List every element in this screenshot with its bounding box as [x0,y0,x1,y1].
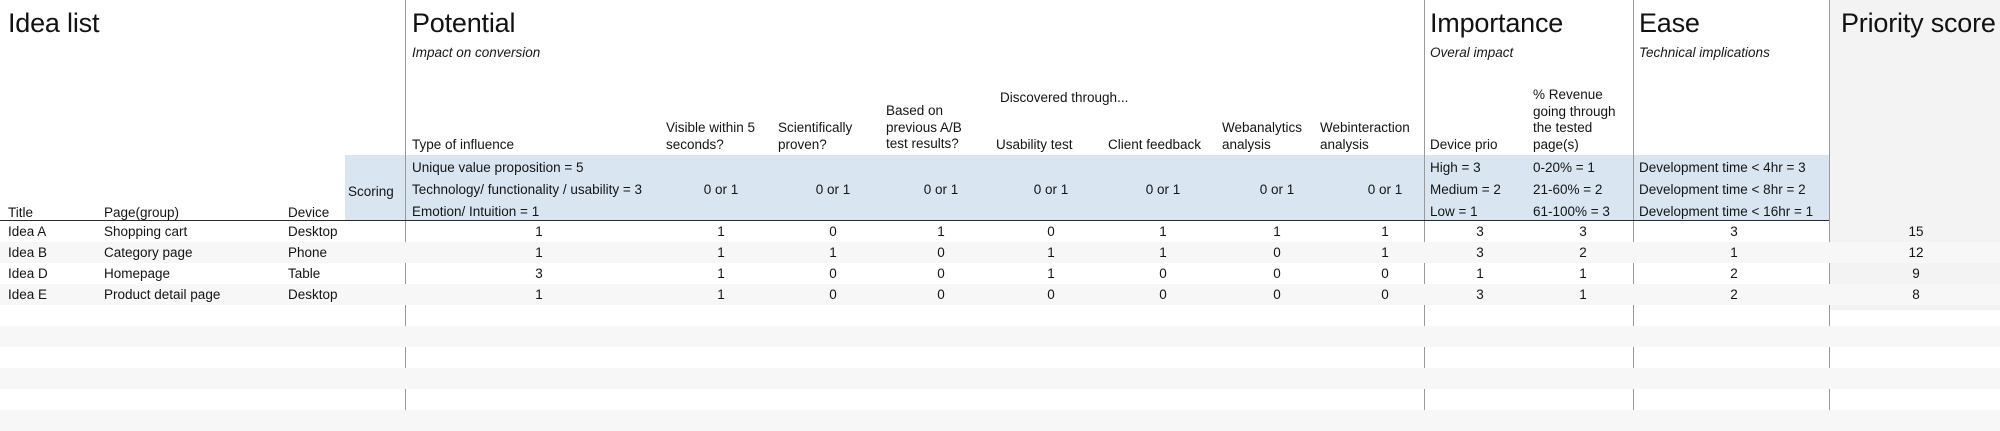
cell-priority-score: 8 [1841,287,1991,302]
cell-usability-test: 0 [996,287,1106,302]
legend-device-prio-1: High = 3 [1430,160,1481,177]
legend-binary-visible-5s: 0 or 1 [666,182,776,199]
cell-webanalytics: 0 [1222,287,1332,302]
column-group-discovered-through: Discovered through... [1000,90,1128,107]
column-header-device-prio: Device prio [1430,137,1498,154]
legend-device-prio-2: Medium = 2 [1430,182,1501,199]
cell-revenue-pct: 2 [1533,245,1633,260]
cell-type-of-influence: 3 [412,266,666,281]
cell-webinteraction: 1 [1330,224,1440,239]
column-header-based-on-ab: Based on previous A/B test results? [886,103,991,153]
legend-ease-2: Development time < 8hr = 2 [1639,182,1806,199]
cell-webanalytics: 0 [1222,245,1332,260]
cell-revenue-pct: 3 [1533,224,1633,239]
cell-visible-5s: 1 [666,287,776,302]
cell-webinteraction: 1 [1330,245,1440,260]
cell-based-on-ab: 0 [886,266,996,281]
table-row[interactable]: Idea BCategory pagePhone1110110132112 [0,242,2000,263]
legend-revenue-1: 0-20% = 1 [1533,160,1595,177]
table-row[interactable]: Idea EProduct detail pageDesktop11000000… [0,284,2000,305]
cell-page-group: Product detail page [104,287,284,302]
cell-device: Desktop [288,224,398,239]
cell-ease: 1 [1639,245,1829,260]
cell-title: Idea B [8,245,98,260]
cell-type-of-influence: 1 [412,224,666,239]
cell-webinteraction: 0 [1330,287,1440,302]
empty-row[interactable] [0,326,2000,347]
cell-visible-5s: 1 [666,224,776,239]
legend-influence-1: Unique value proposition = 5 [412,160,584,177]
cell-client-feedback: 0 [1108,287,1218,302]
cell-ease: 2 [1639,266,1829,281]
legend-binary-scientifically: 0 or 1 [778,182,888,199]
table-row[interactable]: Idea AShopping cartDesktop1101011133315 [0,221,2000,242]
cell-page-group: Shopping cart [104,224,284,239]
group-title-importance: Importance [1430,8,1563,38]
cell-device: Desktop [288,287,398,302]
cell-type-of-influence: 1 [412,287,666,302]
group-subtitle-potential: Impact on conversion [412,45,540,61]
legend-revenue-3: 61-100% = 3 [1533,204,1610,221]
cell-based-on-ab: 0 [886,245,996,260]
cell-type-of-influence: 1 [412,245,666,260]
group-title-idea-list: Idea list [8,8,99,38]
cell-title: Idea D [8,266,98,281]
legend-binary-based-on-ab: 0 or 1 [886,182,996,199]
cell-usability-test: 1 [996,245,1106,260]
cell-device-prio: 3 [1430,224,1530,239]
cell-webanalytics: 0 [1222,266,1332,281]
cell-priority-score: 12 [1841,245,1991,260]
cell-priority-score: 15 [1841,224,1991,239]
cell-scientifically-proven: 0 [778,266,888,281]
cell-visible-5s: 1 [666,245,776,260]
cell-device: Table [288,266,398,281]
legend-ease-3: Development time < 16hr = 1 [1639,204,1813,221]
group-title-priority-score: Priority score [1841,8,1996,38]
column-header-usability-test: Usability test [996,137,1073,154]
cell-device-prio: 1 [1430,266,1530,281]
empty-row[interactable] [0,305,2000,326]
cell-page-group: Homepage [104,266,284,281]
cell-ease: 2 [1639,287,1829,302]
table-row[interactable]: Idea DHomepageTable310010001129 [0,263,2000,284]
cell-usability-test: 0 [996,224,1106,239]
cell-device-prio: 3 [1430,287,1530,302]
cell-based-on-ab: 0 [886,287,996,302]
column-header-client-feedback: Client feedback [1108,137,1201,154]
cell-revenue-pct: 1 [1533,287,1633,302]
spreadsheet-canvas: Idea list Potential Impact on conversion… [0,0,2000,420]
column-header-type-of-influence: Type of influence [412,137,514,154]
cell-device: Phone [288,245,398,260]
legend-influence-2: Technology/ functionality / usability = … [412,182,642,199]
legend-device-prio-3: Low = 1 [1430,204,1478,221]
empty-row[interactable] [0,410,2000,431]
cell-visible-5s: 1 [666,266,776,281]
column-header-revenue-pct: % Revenue going through the tested page(… [1533,87,1633,153]
cell-client-feedback: 1 [1108,245,1218,260]
legend-binary-client-feedback: 0 or 1 [1108,182,1218,199]
column-header-webinteraction: Webinteraction analysis [1320,120,1440,153]
cell-webinteraction: 0 [1330,266,1440,281]
group-title-ease: Ease [1639,8,1700,38]
cell-ease: 3 [1639,224,1829,239]
column-header-scientifically-proven: Scientifically proven? [778,120,888,153]
scoring-label: Scoring [348,184,394,200]
cell-title: Idea A [8,224,98,239]
group-subtitle-ease: Technical implications [1639,45,1770,61]
cell-device-prio: 3 [1430,245,1530,260]
group-title-potential: Potential [412,8,515,38]
cell-page-group: Category page [104,245,284,260]
empty-row[interactable] [0,368,2000,389]
cell-client-feedback: 0 [1108,266,1218,281]
empty-row[interactable] [0,389,2000,410]
cell-webanalytics: 1 [1222,224,1332,239]
empty-row[interactable] [0,347,2000,368]
legend-binary-webanalytics: 0 or 1 [1222,182,1332,199]
cell-priority-score: 9 [1841,266,1991,281]
cell-revenue-pct: 1 [1533,266,1633,281]
legend-influence-3: Emotion/ Intuition = 1 [412,204,539,221]
cell-usability-test: 1 [996,266,1106,281]
group-subtitle-importance: Overal impact [1430,45,1513,61]
column-header-visible-5s: Visible within 5 seconds? [666,120,776,153]
cell-client-feedback: 1 [1108,224,1218,239]
legend-revenue-2: 21-60% = 2 [1533,182,1602,199]
legend-ease-1: Development time < 4hr = 3 [1639,160,1806,177]
cell-scientifically-proven: 0 [778,287,888,302]
legend-binary-usability-test: 0 or 1 [996,182,1106,199]
cell-based-on-ab: 1 [886,224,996,239]
cell-title: Idea E [8,287,98,302]
cell-scientifically-proven: 1 [778,245,888,260]
legend-binary-webinteraction: 0 or 1 [1330,182,1440,199]
cell-scientifically-proven: 0 [778,224,888,239]
